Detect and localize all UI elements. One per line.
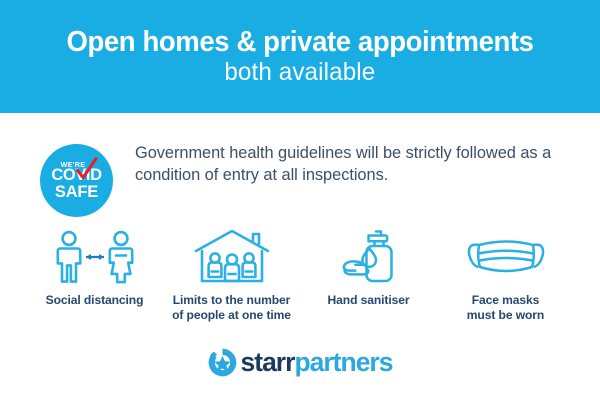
measure-item-occupancy-limit: Limits to the number of people at one ti…	[163, 228, 300, 323]
safety-measures-grid: Social distancing	[26, 228, 574, 323]
logo-word-partners: partners	[294, 347, 392, 377]
poster-canvas: Open homes & private appointments both a…	[0, 0, 600, 400]
measure-item-social-distancing: Social distancing	[26, 228, 163, 308]
page-subtitle: both available	[224, 60, 375, 86]
measure-label-line: Face masks	[467, 293, 544, 308]
measure-label-social-distancing: Social distancing	[46, 293, 144, 308]
social-distancing-icon	[52, 228, 138, 286]
measure-label-hand-sanitiser: Hand sanitiser	[328, 293, 410, 308]
logo-word-starr: starr	[241, 347, 295, 377]
measure-label-line: Hand sanitiser	[328, 293, 410, 308]
measure-label-line: Limits to the number	[172, 293, 291, 308]
measure-label-line: of people at one time	[172, 308, 291, 323]
measure-label-face-mask: Face masks must be worn	[467, 293, 544, 323]
hand-sanitiser-icon	[336, 228, 402, 286]
health-guidelines-text: Government health guidelines will be str…	[135, 143, 585, 187]
statement-row: WE'RE COVID SAFE Government health guide…	[0, 133, 600, 225]
page-title: Open homes & private appointments	[66, 28, 533, 57]
brand-logo: starrpartners	[0, 348, 600, 377]
logo-wordmark: starrpartners	[241, 349, 393, 376]
house-occupancy-limit-icon	[193, 228, 271, 286]
measure-label-line: must be worn	[467, 308, 544, 323]
starr-partners-star-icon	[208, 348, 237, 377]
measure-label-line: Social distancing	[46, 293, 144, 308]
measure-label-occupancy-limit: Limits to the number of people at one ti…	[172, 293, 291, 323]
measure-item-hand-sanitiser: Hand sanitiser	[300, 228, 437, 308]
face-mask-icon	[466, 228, 546, 286]
covid-safe-badge-line3: SAFE	[55, 184, 98, 200]
measure-item-face-mask: Face masks must be worn	[437, 228, 574, 323]
covid-safe-badge: WE'RE COVID SAFE	[40, 144, 113, 217]
covid-safe-badge-line2: COVID	[51, 168, 101, 184]
header-band: Open homes & private appointments both a…	[0, 0, 600, 113]
